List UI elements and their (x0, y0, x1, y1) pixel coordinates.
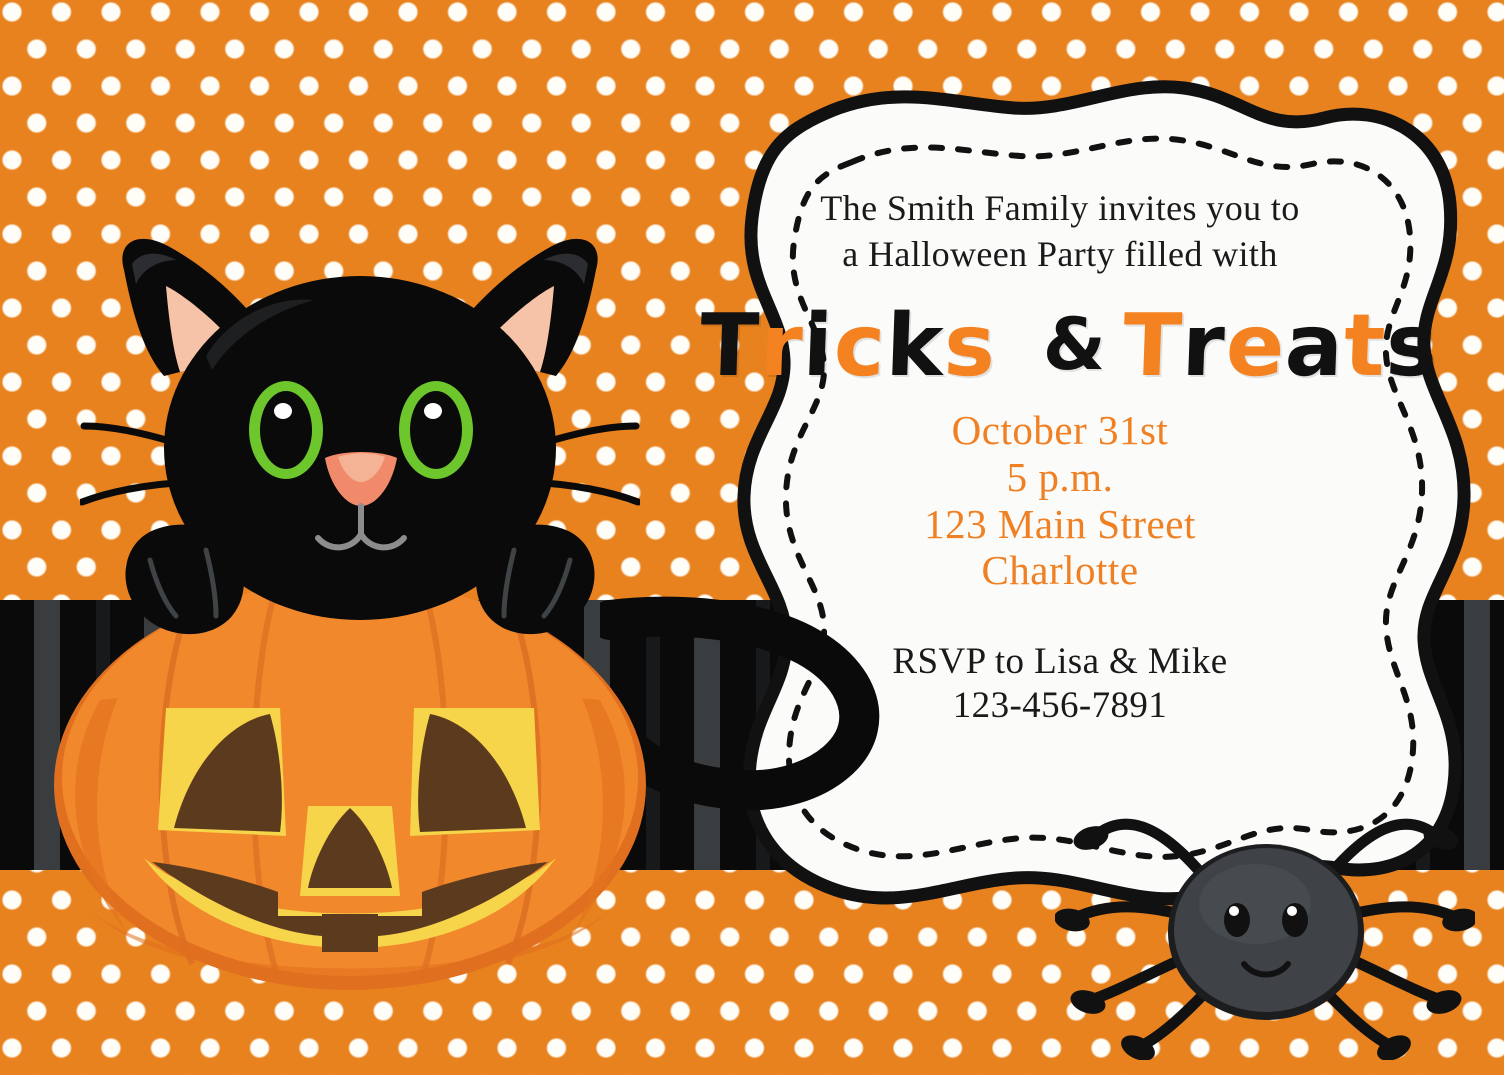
headline-tricks-and-treats: Tricks &Treats (700, 303, 1420, 389)
intro-line-1: The Smith Family invites you to (700, 185, 1420, 231)
halloween-invitation-canvas: The Smith Family invites you to a Hallow… (0, 0, 1504, 1075)
headline-letter: & (1026, 308, 1124, 380)
intro-line-2: a Halloween Party filled with (700, 231, 1420, 277)
headline-letter: r (1181, 303, 1227, 389)
headline-letter: a (1284, 303, 1346, 389)
headline-letter: s (942, 303, 997, 389)
detail-city: Charlotte (700, 547, 1420, 594)
headline-letter: s (1385, 303, 1440, 389)
detail-street: 123 Main Street (700, 501, 1420, 548)
headline-letter: k (884, 303, 945, 389)
black-cat (80, 230, 640, 650)
headline-letter: T (1121, 303, 1184, 389)
detail-time: 5 p.m. (700, 454, 1420, 501)
rsvp-phone: 123-456-7891 (700, 684, 1420, 728)
rsvp-names: RSVP to Lisa & Mike (700, 640, 1420, 684)
headline-letter: i (802, 303, 835, 389)
headline-letter: e (1224, 303, 1286, 389)
rsvp-block: RSVP to Lisa & Mike 123-456-7891 (700, 640, 1420, 727)
detail-date: October 31st (700, 407, 1420, 454)
headline-letter: r (758, 303, 804, 389)
spider (1055, 780, 1475, 1060)
headline-letter: t (1343, 303, 1388, 389)
headline-letter: T (698, 303, 761, 389)
card-text-block: The Smith Family invites you to a Hallow… (700, 185, 1420, 727)
headline-letter: c (832, 303, 887, 389)
event-details-block: October 31st 5 p.m. 123 Main Street Char… (700, 407, 1420, 594)
intro-block: The Smith Family invites you to a Hallow… (700, 185, 1420, 277)
